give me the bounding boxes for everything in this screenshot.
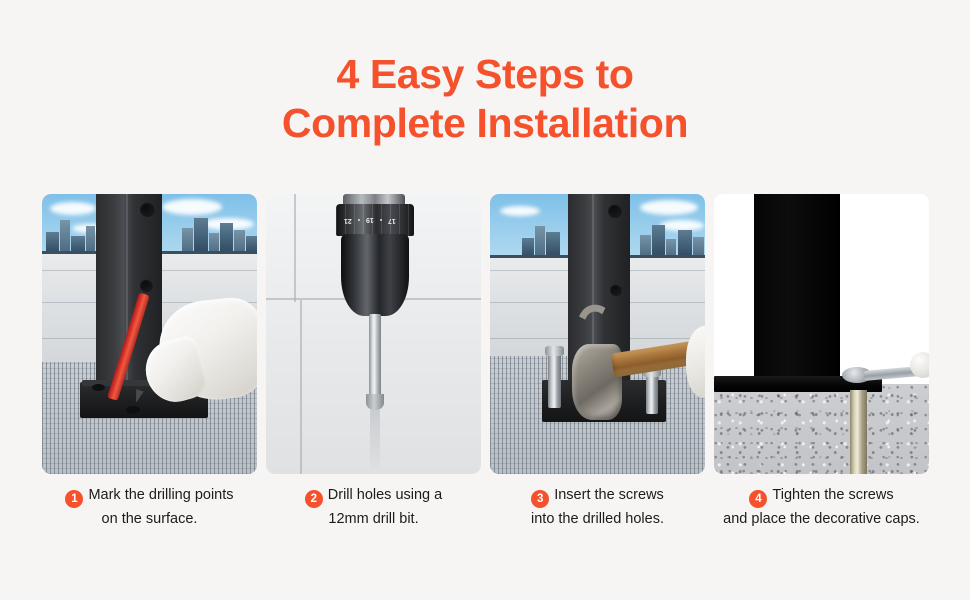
step-caption-4-line-1: Tighten the screws [772,487,893,503]
step-caption-1-line-1: Mark the drilling points [88,487,233,503]
step-image-2: 21 19 17 [266,194,481,474]
post-hole [610,284,622,296]
step-caption-4: 4Tighten the screws and place the decora… [714,484,929,530]
step-caption-4-line-2: and place the decorative caps. [714,508,929,530]
drill-chuck [341,234,409,316]
step-caption-1: 1Mark the drilling points on the surface… [42,484,257,530]
step-caption-3: 3Insert the screws into the drilled hole… [490,484,705,530]
step-number-badge-3: 3 [531,490,549,508]
step-caption-2-line-1: Drill holes using a [328,487,442,503]
step-caption-3-line-2: into the drilled holes. [490,508,705,530]
post-hole [140,279,153,292]
step-image-4 [714,194,929,474]
step-caption-2-line-2: 12mm drill bit. [266,508,481,530]
decorative-cap [910,352,929,378]
step-caption-3-line-1: Insert the screws [554,487,664,503]
title-line-1: 4 Easy Steps to [0,50,970,99]
step-caption-row: 1Mark the drilling points on the surface… [42,484,929,530]
step-caption-2: 2Drill holes using a 12mm drill bit. [266,484,481,530]
drill-bit-tip [366,394,384,410]
post-column [754,194,840,380]
step-number-badge-1: 1 [65,490,83,508]
drill-bit-reflection [370,410,380,474]
post-hole [608,204,622,218]
base-plate-hole [92,384,105,391]
granite-surface [714,384,929,474]
tile-grout-line [300,300,302,474]
post-hole [140,202,155,217]
screw [548,350,561,408]
base-plate-hole [126,406,140,414]
torque-mark-21: 21 [344,217,352,224]
drill-bit [369,314,381,406]
screw-head [545,346,564,356]
screw [646,372,658,414]
step-image-1 [42,194,257,474]
step-image-3 [490,194,705,474]
page-title: 4 Easy Steps to Complete Installation [0,50,970,148]
step-caption-1-line-2: on the surface. [42,508,257,530]
title-line-2: Complete Installation [0,99,970,148]
step-number-badge-4: 4 [749,490,767,508]
screw-shaft [850,390,867,474]
torque-mark-17: 17 [388,217,396,224]
torque-mark-19: 19 [366,216,374,223]
tile-grout-line [294,194,296,302]
step-image-row: 21 19 17 [42,194,929,474]
step-number-badge-2: 2 [305,490,323,508]
